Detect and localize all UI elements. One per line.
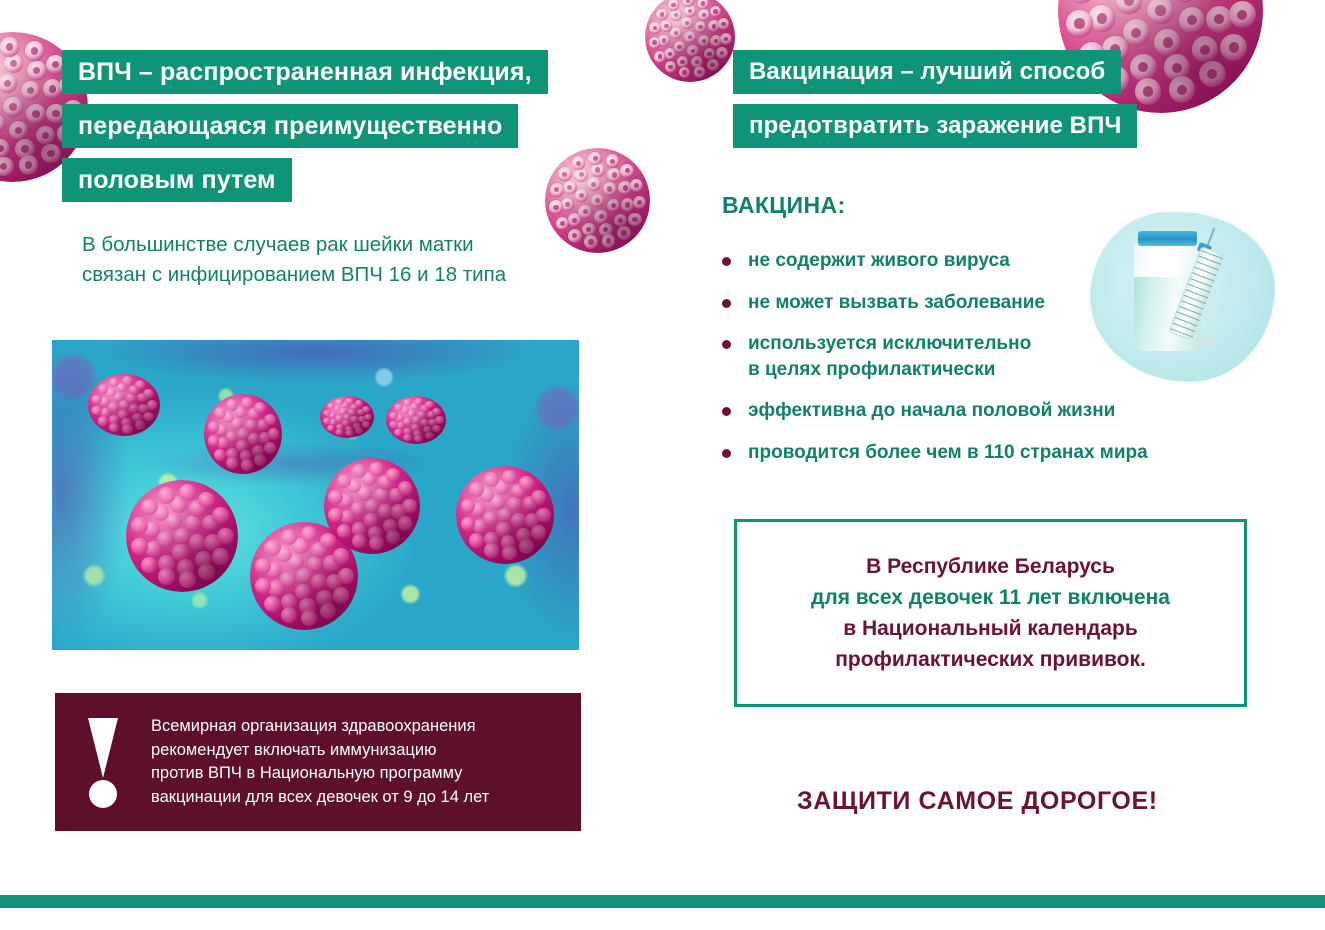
micrograph-virion: [126, 480, 238, 592]
bullet-line: проводится более чем в 110 странах мира: [748, 440, 1148, 466]
left-headline-line-3: половым путем: [62, 158, 292, 202]
belarus-line-2: для всех девочек 11 лет включена: [811, 582, 1170, 613]
exclamation-dot: [89, 780, 117, 808]
who-recommendation-box: Всемирная организация здравоохранения ре…: [55, 693, 581, 831]
micrograph-virion: [386, 396, 446, 444]
left-headline-text-1: ВПЧ – распространенная инфекция,: [78, 58, 532, 87]
who-line-3: против ВПЧ в Национальную программу: [151, 762, 489, 786]
micrograph-virion: [320, 396, 374, 438]
virus-particle-mid-left: [545, 148, 650, 253]
bullet-line: эффективна до начала половой жизни: [748, 398, 1115, 424]
virus-shading: [645, 0, 735, 82]
virus-particle-top-center: [645, 0, 735, 82]
left-subtext-line-2: связан с инфицированием ВПЧ 16 и 18 типа: [82, 260, 506, 290]
belarus-line-3: в Национальный календарь: [843, 613, 1138, 644]
left-headline-text-2: передающаяся преимущественно: [78, 112, 502, 141]
bullet-line: не может вызвать заболевание: [748, 290, 1045, 316]
bullet-text: эффективна до начала половой жизни: [748, 398, 1115, 424]
exclamation-bar: [88, 718, 118, 778]
bullet-line: в целях профилактически: [748, 357, 1031, 383]
bullet-dot-icon: [722, 407, 731, 416]
virus-shading: [545, 148, 650, 253]
who-line-1: Всемирная организация здравоохранения: [151, 715, 489, 739]
right-headline-text-2: предотвратить заражение ВПЧ: [749, 112, 1121, 140]
who-recommendation-text: Всемирная организация здравоохранения ре…: [151, 715, 489, 809]
vaccine-vial-illustration: [1090, 212, 1275, 382]
belarus-line-4: профилактических прививок.: [835, 644, 1146, 675]
bullet-dot-icon: [722, 257, 731, 266]
micrograph-virion: [88, 374, 160, 436]
bullet-line: не содержит живого вируса: [748, 248, 1010, 274]
left-subtext: В большинстве случаев рак шейки матки св…: [82, 230, 506, 290]
bullet-text: не содержит живого вируса: [748, 248, 1010, 274]
vial-cap: [1138, 231, 1197, 246]
bullet-text: используется исключительно в целях профи…: [748, 331, 1031, 382]
hpv-micrograph-image: [52, 340, 579, 650]
footer-bar: [0, 895, 1325, 908]
exclamation-icon: [71, 714, 135, 810]
belarus-line-1: В Республике Беларусь: [866, 551, 1115, 582]
bullet-line: используется исключительно: [748, 331, 1031, 357]
left-headline-line-1: ВПЧ – распространенная инфекция,: [62, 50, 548, 94]
right-headline-line-2: предотвратить заражение ВПЧ: [733, 104, 1137, 148]
right-headline-text-1: Вакцинация – лучший способ: [749, 58, 1105, 86]
list-item: проводится более чем в 110 странах мира: [722, 440, 1212, 466]
bullet-text: проводится более чем в 110 странах мира: [748, 440, 1148, 466]
micrograph-virion: [204, 394, 282, 474]
bullet-dot-icon: [722, 299, 731, 308]
bottom-slogan: ЗАЩИТИ САМОЕ ДОРОГОЕ!: [797, 787, 1158, 816]
vaccine-heading: ВАКЦИНА:: [722, 192, 846, 219]
who-line-2: рекомендует включать иммунизацию: [151, 739, 489, 763]
belarus-schedule-box: В Республике Беларусь для всех девочек 1…: [734, 519, 1247, 707]
bullet-dot-icon: [722, 340, 731, 349]
who-line-4: вакцинации для всех девочек от 9 до 14 л…: [151, 786, 489, 810]
micrograph-virion: [324, 458, 420, 554]
list-item: эффективна до начала половой жизни: [722, 398, 1212, 424]
bullet-dot-icon: [722, 449, 731, 458]
left-headline-text-3: половым путем: [78, 166, 276, 195]
left-headline-line-2: передающаяся преимущественно: [62, 104, 518, 148]
left-subtext-line-1: В большинстве случаев рак шейки матки: [82, 230, 506, 260]
right-headline-line-1: Вакцинация – лучший способ: [733, 50, 1121, 94]
bullet-text: не может вызвать заболевание: [748, 290, 1045, 316]
micrograph-virion: [456, 466, 554, 564]
